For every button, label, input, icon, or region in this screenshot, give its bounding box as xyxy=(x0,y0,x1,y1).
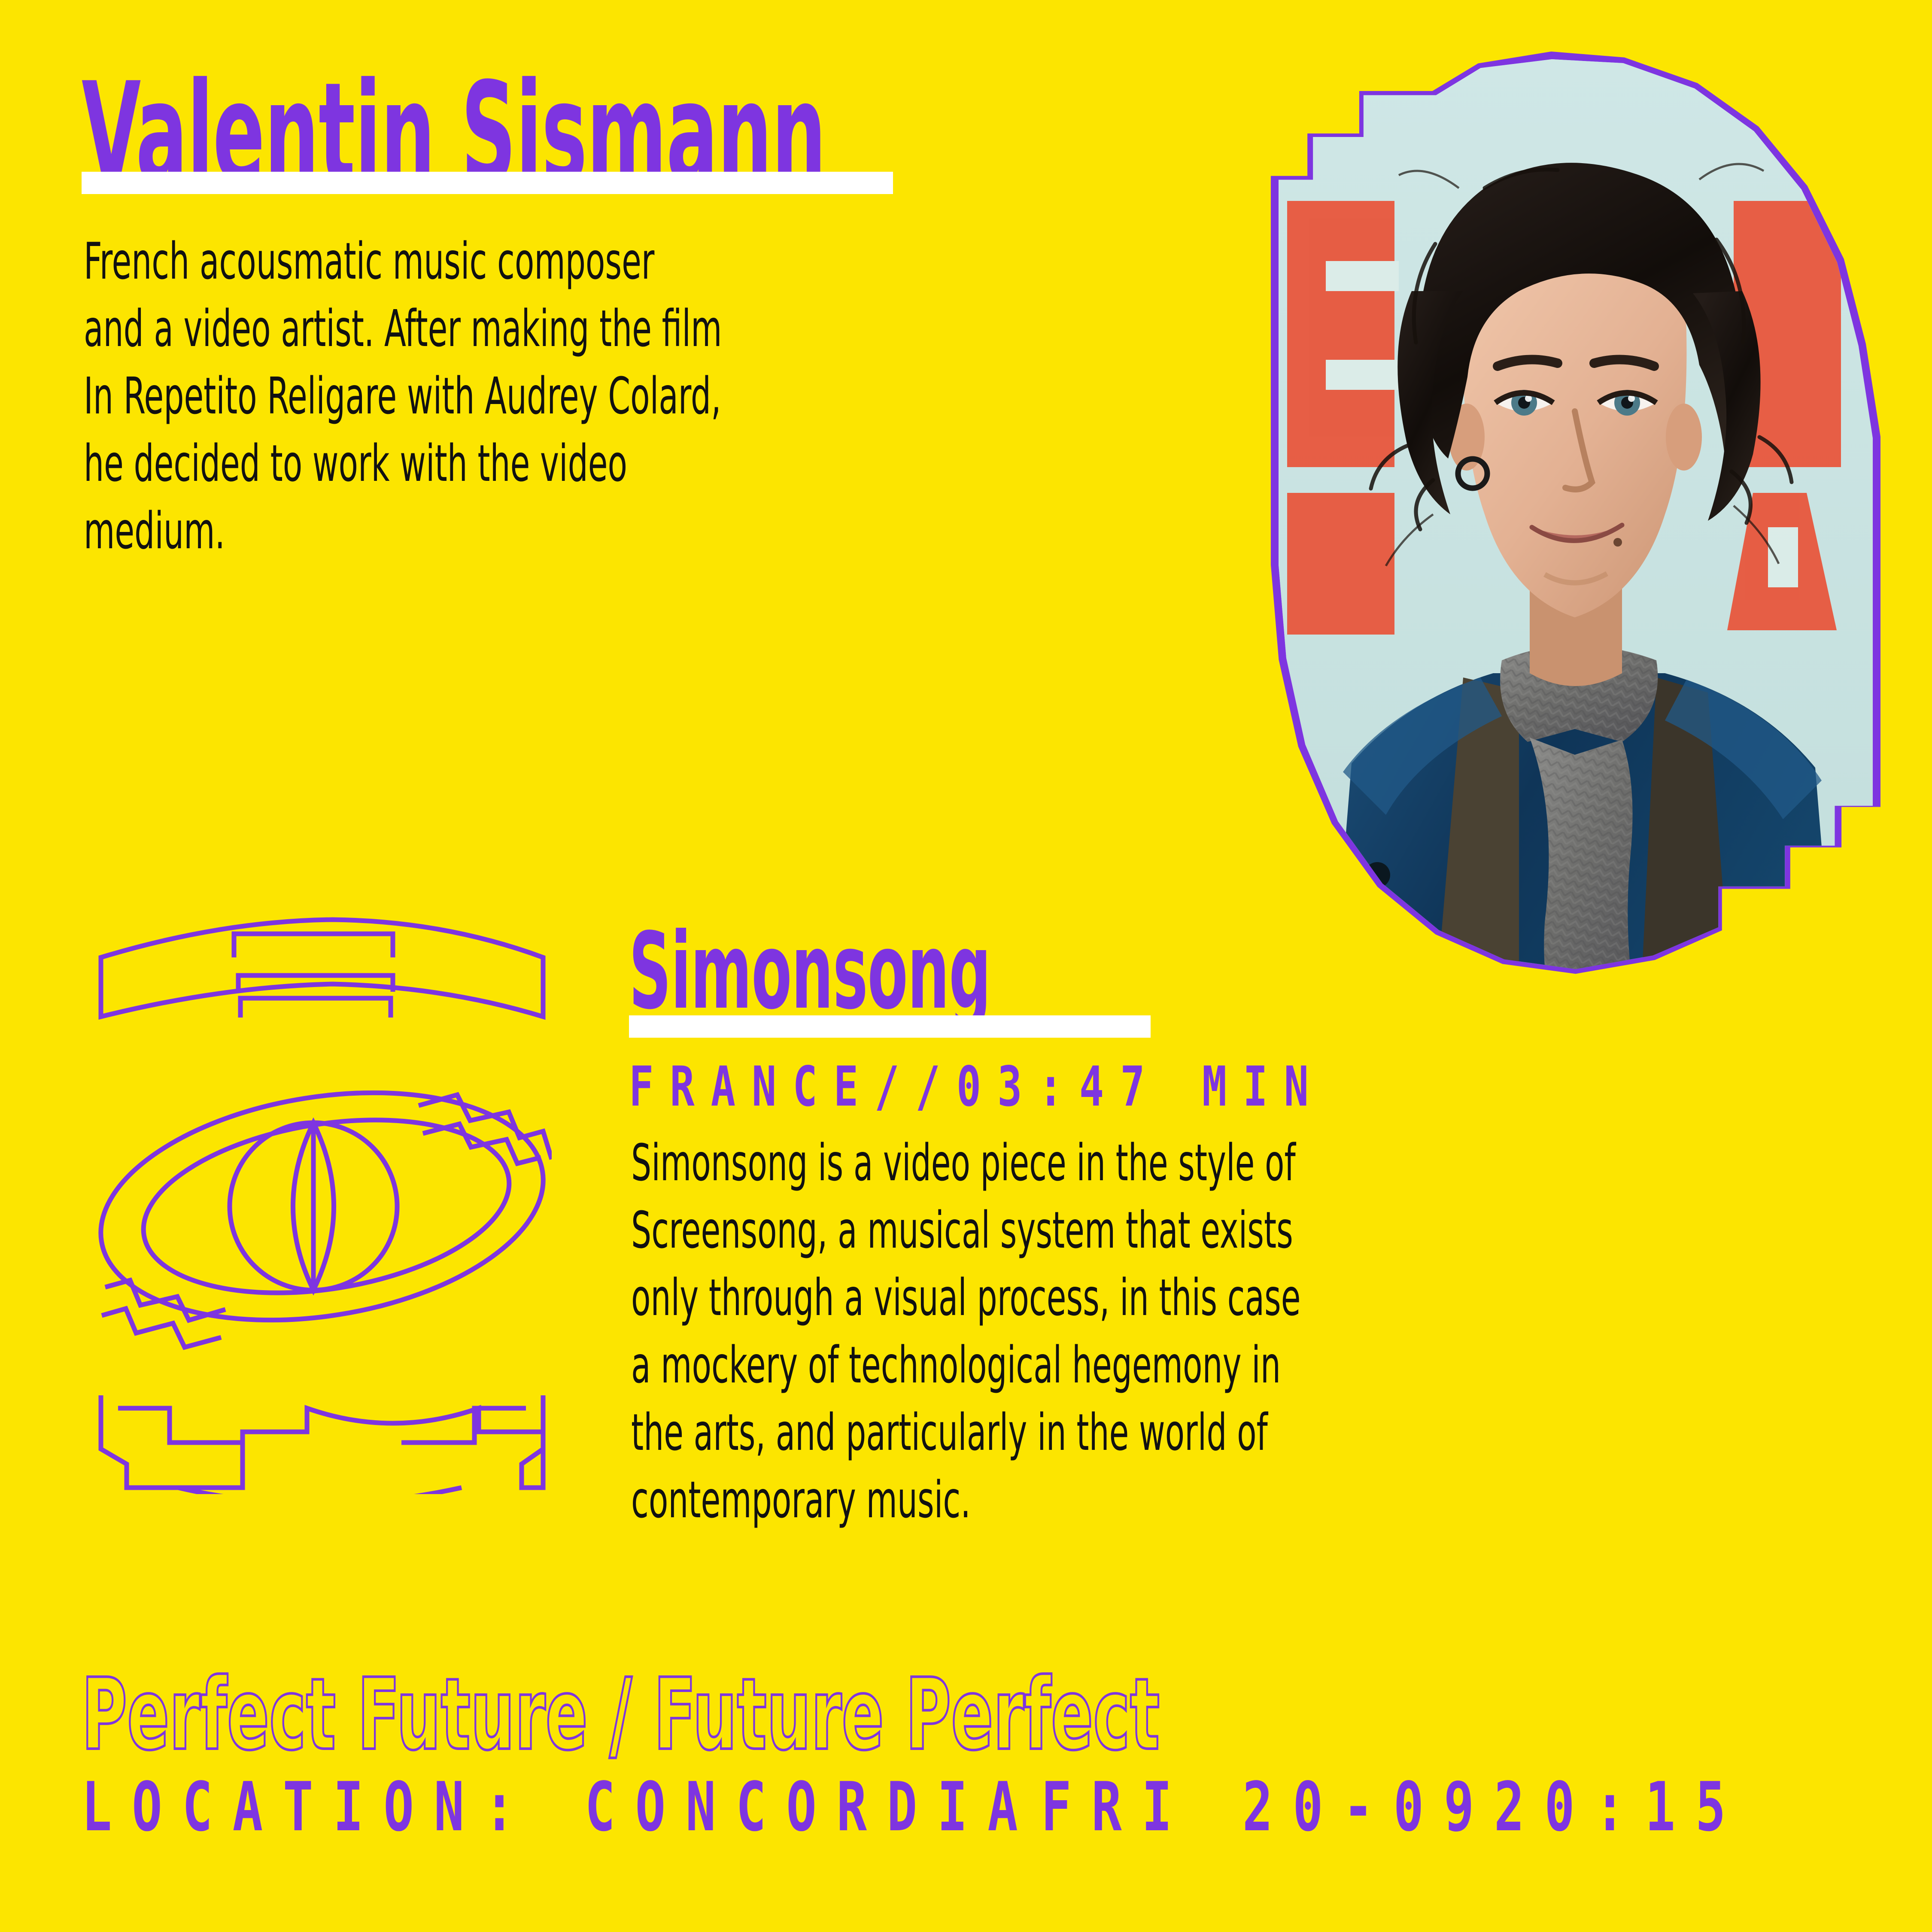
portrait-illustration xyxy=(1279,59,1873,1031)
work-meta: FRANCE//03:47 MIN xyxy=(629,1059,1325,1114)
bio-line: medium. xyxy=(84,497,1136,565)
footer-time: 20:15 xyxy=(1494,1774,1746,1850)
abstract-eye-orbit-graphic xyxy=(92,910,552,1494)
portrait-image xyxy=(1279,59,1873,1031)
artist-name: Valentin Sismann xyxy=(82,64,667,189)
artist-name-underline xyxy=(82,172,893,194)
artist-name-block: Valentin Sismann xyxy=(82,64,1026,189)
festival-title: Perfect Future / Future Perfect xyxy=(82,1666,1160,1765)
work-description-line: contemporary music. xyxy=(631,1466,1683,1534)
ornament-svg xyxy=(92,910,552,1494)
bio-line: he decided to work with the video xyxy=(84,430,1136,497)
footer-date: FRI 20-09 xyxy=(1041,1774,1494,1850)
bio-line: French acousmatic music composer xyxy=(84,228,1136,295)
work-description-line: Screensong, a musical system that exists xyxy=(631,1197,1683,1264)
bio-line: and a video artist. After making the fil… xyxy=(84,295,1136,362)
bio-line: In Repetito Religare with Audrey Colard, xyxy=(84,362,1136,430)
footer-location: LOCATION: CONCORDIA xyxy=(82,1774,1038,1850)
work-title: Simonsong xyxy=(629,919,1348,1018)
work-description-line: Simonsong is a video piece in the style … xyxy=(631,1129,1683,1197)
poster-canvas: Valentin Sismann French acousmatic music… xyxy=(0,0,1932,1932)
work-description-line: the arts, and particularly in the world … xyxy=(631,1399,1683,1466)
work-description: Simonsong is a video piece in the style … xyxy=(631,1129,1932,1534)
work-description-line: a mockery of technological hegemony in xyxy=(631,1331,1683,1399)
artist-portrait xyxy=(1271,52,1880,1039)
work-description-line: only through a visual process, in this c… xyxy=(631,1264,1683,1331)
work-title-block: Simonsong xyxy=(629,919,1788,1018)
work-title-underline xyxy=(629,1015,1151,1038)
